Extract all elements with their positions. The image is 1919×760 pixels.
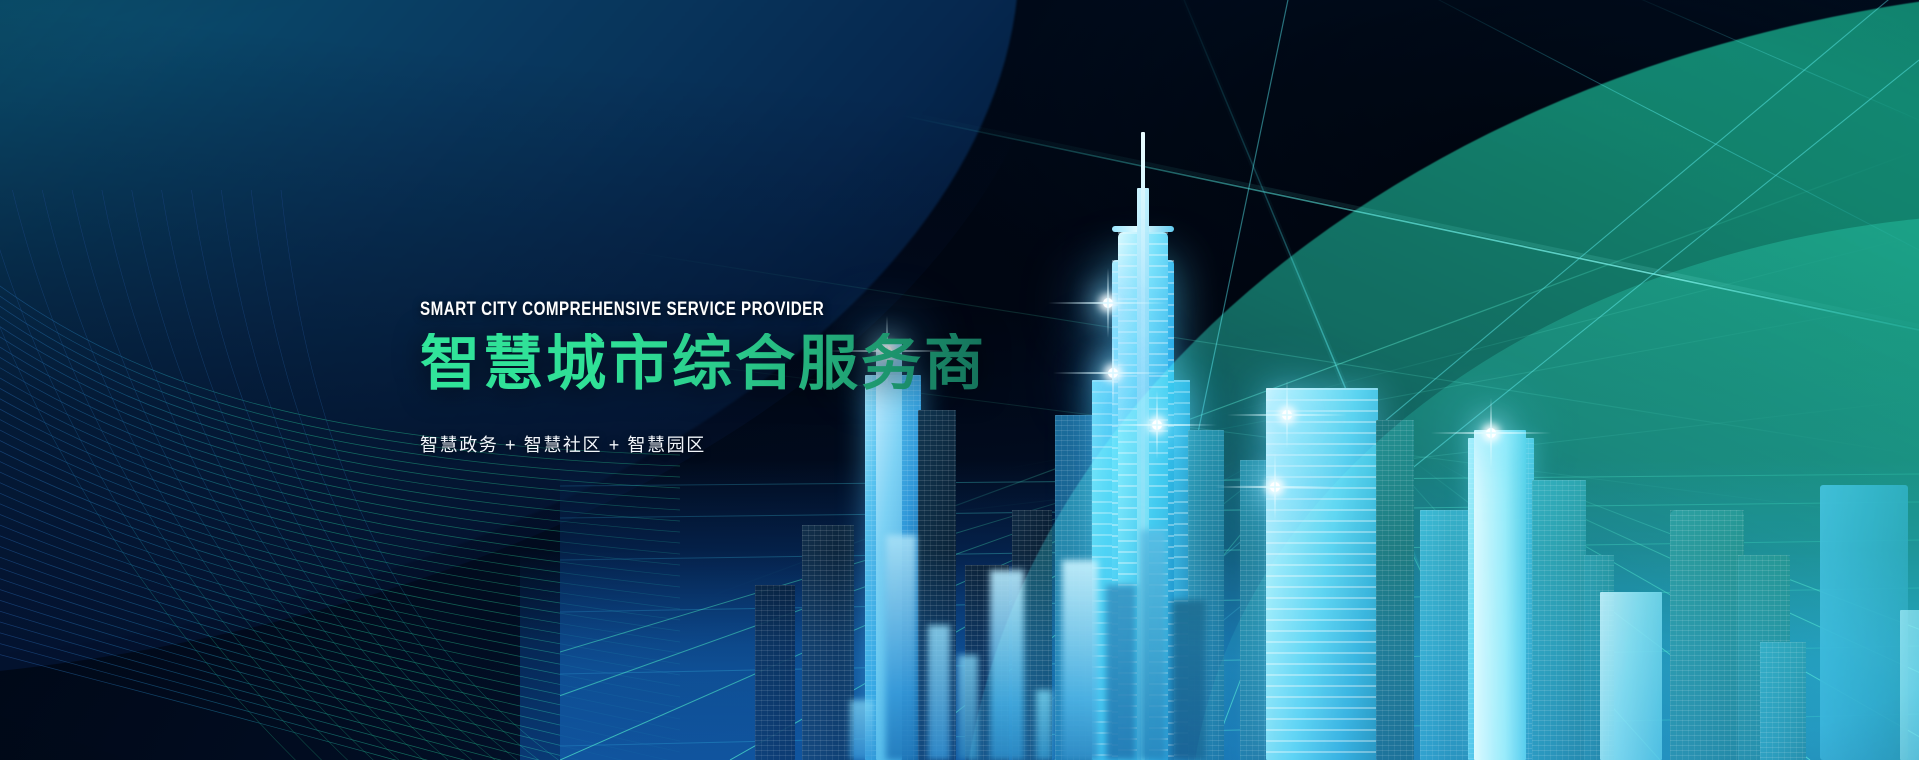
hero-copy-block: SMART CITY COMPREHENSIVE SERVICE PROVIDE… <box>420 300 987 454</box>
hero-headline-chinese: 智慧城市综合服务商 <box>420 333 987 395</box>
fg-bar-2 <box>886 535 916 760</box>
hero-subheadline-chinese: 智慧政务 + 智慧社区 + 智慧园区 <box>420 436 987 454</box>
building-back-1 <box>755 585 795 760</box>
fg-bar-3 <box>928 625 950 760</box>
lens-flare-central-mid <box>1108 368 1118 378</box>
hero-eyebrow-english: SMART CITY COMPREHENSIVE SERVICE PROVIDE… <box>420 300 874 319</box>
smart-city-hero-banner: SMART CITY COMPREHENSIVE SERVICE PROVIDE… <box>0 0 1919 760</box>
lens-flare-central-upper <box>1103 298 1113 308</box>
fg-bar-1 <box>850 700 874 760</box>
